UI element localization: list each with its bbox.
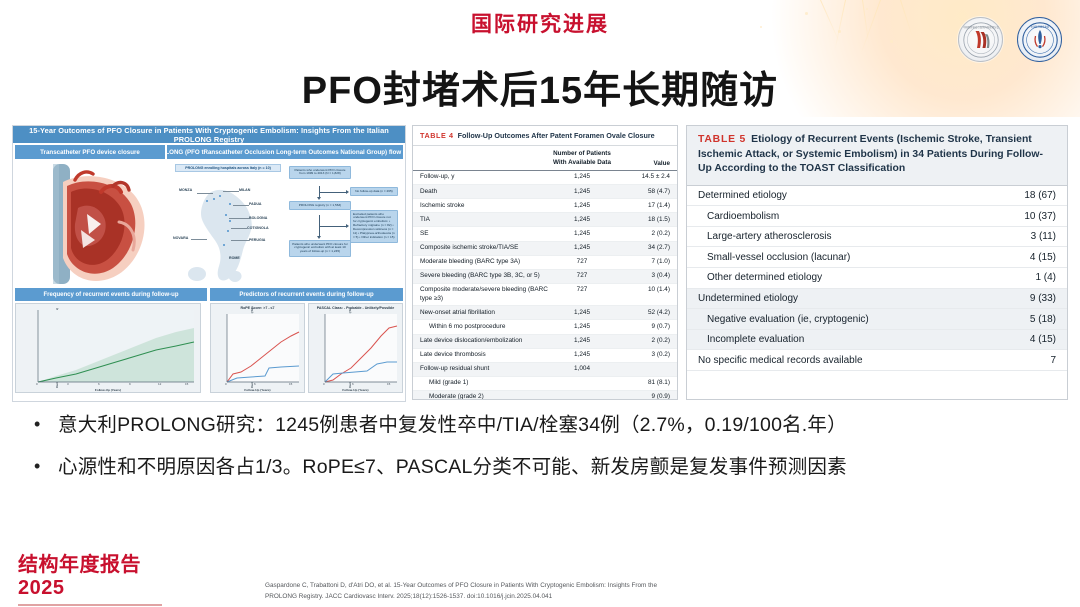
table-5-cell-value: 9 (33) xyxy=(1004,293,1056,304)
table-4-cell-n: 1,245 xyxy=(548,230,616,237)
table-4-cell-label: Moderate bleeding (BARC type 3A) xyxy=(420,258,548,266)
study-flow-chart: Patients who underwent PFO closure from … xyxy=(287,162,403,286)
table-row: Incomplete evaluation4 (15) xyxy=(687,330,1067,351)
svg-text:中国医师协会心血管内科医师分会: 中国医师协会心血管内科医师分会 xyxy=(963,25,999,29)
map-label-cotignola: COTIGNOLA xyxy=(247,226,269,230)
table-4-cell-value: 9 (0.7) xyxy=(616,323,670,330)
table-4-cell-n: 1,245 xyxy=(548,323,616,330)
table-4-cell-value: 9 (0.9) xyxy=(616,393,670,400)
chart-group-predictors-header: Predictors of recurrent events during fo… xyxy=(210,288,403,301)
table-5-cell-label: Undetermined etiology xyxy=(698,293,1004,304)
table-5-cell-value: 4 (15) xyxy=(1004,252,1056,263)
table-row: Moderate (grade 2)9 (0.9) xyxy=(413,391,677,400)
table-row: Follow-up, y1,24514.5 ± 2.4 xyxy=(413,171,677,185)
bullet-marker-icon: • xyxy=(34,412,58,433)
table-5-title: TABLE 5Etiology of Recurrent Events (Isc… xyxy=(687,126,1067,186)
table-5-cell-value: 10 (37) xyxy=(1004,211,1056,222)
table-4-cell-n: 727 xyxy=(548,286,616,293)
table-row: Ischemic stroke1,24517 (1.4) xyxy=(413,199,677,213)
table-4-cell-value: 2 (0.2) xyxy=(616,230,670,237)
table-4-cell-value: 34 (2.7) xyxy=(616,244,670,251)
plot3-x-axis-label: Follow-Up (Years) xyxy=(309,388,402,392)
table-4-cell-label: Mild (grade 1) xyxy=(420,379,548,387)
table-5-cell-value: 7 xyxy=(1004,355,1056,366)
map-label-padua: PADUA xyxy=(249,202,262,206)
table-4-cell-n: 1,245 xyxy=(548,173,616,180)
flow-node-excluded: Excluded patients who underwent PFO clos… xyxy=(350,210,398,243)
table-4-cell-label: Follow-up, y xyxy=(420,173,548,181)
table-row: Determined etiology18 (67) xyxy=(687,186,1067,207)
table-4-cell-value: 17 (1.4) xyxy=(616,202,670,209)
table-4-cell-label: Moderate (grade 2) xyxy=(420,393,548,400)
table-4-cell-n: 1,004 xyxy=(548,365,616,372)
table-5-title-text: Etiology of Recurrent Events (Ischemic S… xyxy=(698,134,1043,174)
table-5-cell-label: Small-vessel occlusion (lacunar) xyxy=(698,252,1004,263)
table-4-body: Follow-up, y1,24514.5 ± 2.4Death1,24558 … xyxy=(413,171,677,400)
table-5-etiology: TABLE 5Etiology of Recurrent Events (Isc… xyxy=(686,125,1068,400)
table-4-cell-label: Follow-up residual shunt xyxy=(420,365,548,373)
plot-rope-score: RoPE Score: >7 - ≤7 Cumulative Incidence… xyxy=(210,303,305,393)
table-4-cell-value: 3 (0.2) xyxy=(616,351,670,358)
table-row: Small-vessel occlusion (lacunar)4 (15) xyxy=(687,247,1067,268)
table-4-col2-header: Number of Patients With Available Data xyxy=(548,150,616,167)
table-4-cell-value: 10 (1.4) xyxy=(616,286,670,293)
slide-content: 15-Year Outcomes of PFO Closure in Patie… xyxy=(0,117,1080,607)
table-4-cell-label: Severe bleeding (BARC type 3B, 3C, or 5) xyxy=(420,272,548,280)
table-row: Composite ischemic stroke/TIA/SE1,24534 … xyxy=(413,242,677,256)
map-label-rome: ROME xyxy=(229,256,240,260)
table-4-cell-label: Late device dislocation/embolization xyxy=(420,337,548,345)
table-4-title-text: Follow-Up Outcomes After Patent Foramen … xyxy=(458,131,655,140)
table-4-cell-value: 3 (0.4) xyxy=(616,272,670,279)
table-row: Undetermined etiology9 (33) xyxy=(687,289,1067,310)
slide-header-banner: 国际研究进展 PFO封堵术后15年长期随访 中国医师协会心血管内科医师分会 中国… xyxy=(0,0,1080,117)
table-4-cell-label: Ischemic stroke xyxy=(420,202,548,210)
flow-node-enrolled: Patients who underwent PFO closure from … xyxy=(289,166,351,179)
svg-text:中国医药教育协会: 中国医药教育协会 xyxy=(1030,24,1049,28)
source-citation: Gaspardone C, Trabattoni D, d'Atri DO, e… xyxy=(265,580,885,602)
table-5-cell-value: 4 (15) xyxy=(1004,334,1056,345)
table-4-col3-header: Value xyxy=(616,160,670,167)
table-4-cell-label: Death xyxy=(420,188,548,196)
table-4-cell-value: 52 (4.2) xyxy=(616,309,670,316)
table-row: Cardioembolism10 (37) xyxy=(687,206,1067,227)
table-5-cell-label: Large-artery atherosclerosis xyxy=(698,231,1004,242)
table-5-cell-value: 5 (18) xyxy=(1004,314,1056,325)
report-series-logo: 结构年度报告2025 xyxy=(18,548,168,606)
map-label-monza: MONZA xyxy=(179,188,192,192)
report-series-logo-text: 结构年度报告2025 xyxy=(18,548,168,600)
table-5-cell-label: Other determined etiology xyxy=(698,272,1004,283)
study-figure-panel: 15-Year Outcomes of PFO Closure in Patie… xyxy=(12,125,406,402)
map-label-milan: MILAN xyxy=(239,188,250,192)
table-4-cell-label: Within 6 mo postprocedure xyxy=(420,323,548,331)
table-row: TIA1,24518 (1.5) xyxy=(413,213,677,227)
table-5-cell-label: No specific medical records available xyxy=(698,355,1004,366)
table-5-tag: TABLE 5 xyxy=(698,134,746,145)
table-4-cell-value: 58 (4.7) xyxy=(616,188,670,195)
table-5-body: Determined etiology18 (67)Cardioembolism… xyxy=(687,186,1067,371)
table-5-cell-value: 3 (11) xyxy=(1004,231,1056,242)
table-row: Death1,24558 (4.7) xyxy=(413,185,677,199)
table-4-tag: TABLE 4 xyxy=(420,131,454,140)
citation-line-2: PROLONG Registry. JACC Cardiovasc Interv… xyxy=(265,591,885,602)
table-4-cell-n: 1,245 xyxy=(548,309,616,316)
table-5-cell-label: Determined etiology xyxy=(698,190,1004,201)
table-5-cell-label: Negative evaluation (ie, cryptogenic) xyxy=(698,314,1004,325)
bullet-text-1: 意大利PROLONG研究：1245例患者中复发性卒中/TIA/栓塞34例（2.7… xyxy=(58,412,847,438)
table-4-cell-value: 7 (1.0) xyxy=(616,258,670,265)
map-label-novara: NOVARA xyxy=(173,236,188,240)
chart-group-predictors: Predictors of recurrent events during fo… xyxy=(210,288,403,398)
table-4-followup-outcomes: TABLE 4Follow-Up Outcomes After Patent F… xyxy=(412,125,678,400)
table-5-cell-value: 1 (4) xyxy=(1004,272,1056,283)
bullet-item: • 意大利PROLONG研究：1245例患者中复发性卒中/TIA/栓塞34例（2… xyxy=(34,412,1054,438)
bullet-text-2: 心源性和不明原因各占1/3。RoPE≤7、PASCAL分类不可能、新发房颤是复发… xyxy=(58,454,847,480)
chart-group-frequency-header: Frequency of recurrent events during fol… xyxy=(15,288,207,301)
logo-group: 中国医师协会心血管内科医师分会 中国医药教育协会 xyxy=(958,17,1062,62)
flow-node-final-cohort: Patients who underwent PFO closure for c… xyxy=(289,240,351,257)
italy-hospital-map: PROLONG enrolling hospitals across Italy… xyxy=(167,162,285,286)
table-row: Mild (grade 1)81 (8.1) xyxy=(413,377,677,391)
plot-cumulative-incidence: Cumulative Incidence of Ischemic Stroke,… xyxy=(15,303,201,393)
table-4-cell-n: 1,245 xyxy=(548,216,616,223)
table-row: Composite moderate/severe bleeding (BARC… xyxy=(413,284,677,306)
table-4-cell-n: 1,245 xyxy=(548,188,616,195)
flow-node-no-followup: No follow-up data (n = 265) xyxy=(350,187,398,196)
table-4-title: TABLE 4Follow-Up Outcomes After Patent F… xyxy=(413,126,677,146)
table-row: Late device dislocation/embolization1,24… xyxy=(413,335,677,349)
chart-group-frequency: Frequency of recurrent events during fol… xyxy=(15,288,207,398)
plot1-x-axis-label: Follow-Up (Years) xyxy=(16,388,200,392)
table-5-cell-label: Incomplete evaluation xyxy=(698,334,1004,345)
table-row: Other determined etiology1 (4) xyxy=(687,268,1067,289)
summary-bullets: • 意大利PROLONG研究：1245例患者中复发性卒中/TIA/栓塞34例（2… xyxy=(34,412,1054,497)
table-4-column-headers: Number of Patients With Available Data V… xyxy=(413,146,677,171)
banner-kicker: 国际研究进展 xyxy=(0,8,1080,38)
table-4-cell-label: TIA xyxy=(420,216,548,224)
plot-pascal-class: PASCAL Class: - Probable - Unlikely/Poss… xyxy=(308,303,403,393)
table-row: Negative evaluation (ie, cryptogenic)5 (… xyxy=(687,309,1067,330)
table-4-cell-n: 1,245 xyxy=(548,337,616,344)
table-4-cell-n: 1,245 xyxy=(548,351,616,358)
table-4-cell-label: Composite ischemic stroke/TIA/SE xyxy=(420,244,548,252)
table-row: Moderate bleeding (BARC type 3A)7277 (1.… xyxy=(413,256,677,270)
table-row: New-onset atrial fibrillation1,24552 (4.… xyxy=(413,306,677,320)
institution-logo-blue: 中国医药教育协会 xyxy=(1017,17,1062,62)
map-label-bologna: BOLOGNA xyxy=(249,216,267,220)
table-4-cell-label: SE xyxy=(420,230,548,238)
figure-subheader-right: PROLONG (PFO tRanscatheter Occlusion Lon… xyxy=(167,145,403,159)
plot2-x-axis-label: Follow-Up (Years) xyxy=(211,388,304,392)
table-4-cell-value: 81 (8.1) xyxy=(616,379,670,386)
map-label-perugia: PERUGIA xyxy=(249,238,265,242)
table-row: No specific medical records available7 xyxy=(687,350,1067,371)
table-row: Within 6 mo postprocedure1,2459 (0.7) xyxy=(413,320,677,334)
table-row: SE1,2452 (0.2) xyxy=(413,227,677,241)
table-4-cell-label: Composite moderate/severe bleeding (BARC… xyxy=(420,286,548,303)
table-4-cell-n: 727 xyxy=(548,258,616,265)
page-title: PFO封堵术后15年长期随访 xyxy=(0,59,1080,114)
heart-anatomy-illustration xyxy=(15,162,165,286)
table-4-cell-value: 14.5 ± 2.4 xyxy=(616,173,670,180)
table-row: Severe bleeding (BARC type 3B, 3C, or 5)… xyxy=(413,270,677,284)
flow-node-registry: PROLONG registry (n = 1,563) xyxy=(289,201,351,210)
citation-line-1: Gaspardone C, Trabattoni D, d'Atri DO, e… xyxy=(265,580,885,591)
bullet-item: • 心源性和不明原因各占1/3。RoPE≤7、PASCAL分类不可能、新发房颤是… xyxy=(34,454,1054,480)
table-4-cell-value: 18 (1.5) xyxy=(616,216,670,223)
table-4-cell-label: Late device thrombosis xyxy=(420,351,548,359)
table-4-cell-value: 2 (0.2) xyxy=(616,337,670,344)
table-4-cell-n: 727 xyxy=(548,272,616,279)
table-4-cell-label: New-onset atrial fibrillation xyxy=(420,309,548,317)
table-5-cell-label: Cardioembolism xyxy=(698,211,1004,222)
figure-header: 15-Year Outcomes of PFO Closure in Patie… xyxy=(13,126,405,143)
table-row: Large-artery atherosclerosis3 (11) xyxy=(687,227,1067,248)
report-series-logo-rule xyxy=(18,604,162,606)
institution-logo-red: 中国医师协会心血管内科医师分会 xyxy=(958,17,1003,62)
table-4-cell-n: 1,245 xyxy=(548,202,616,209)
table-row: Follow-up residual shunt1,004 xyxy=(413,363,677,377)
table-4-cell-n: 1,245 xyxy=(548,244,616,251)
table-row: Late device thrombosis1,2453 (0.2) xyxy=(413,349,677,363)
bullet-marker-icon: • xyxy=(34,454,58,475)
figure-subheader-left: Transcatheter PFO device closure xyxy=(15,145,165,159)
table-5-cell-value: 18 (67) xyxy=(1004,190,1056,201)
